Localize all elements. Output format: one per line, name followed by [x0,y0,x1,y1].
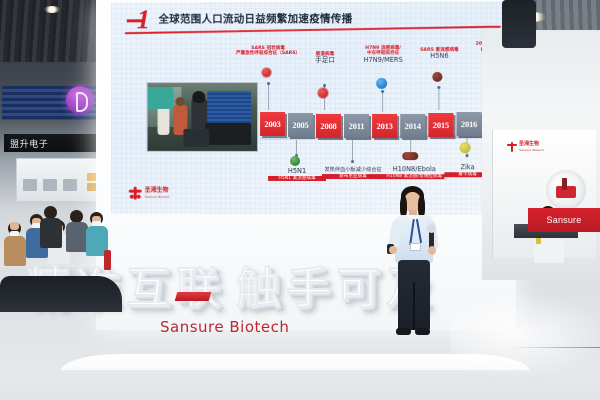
timeline-dot [437,86,440,89]
presenter-shoe [415,328,430,335]
standing-visitor-body [502,0,536,48]
timeline-year-block: 2011 [344,114,369,138]
booth-right-logo-en: Sansure Biotech [519,148,544,152]
standing-visitor [496,0,536,58]
presenter [382,186,452,336]
slide-sansure-logo: 圣湘生物 Sansure Biotech [129,187,170,200]
timeline-label-below: 发热伴血小板减少综合征 新布尼亚病毒 [322,168,384,179]
virus-icon-red [318,88,328,98]
virus-icon-blue [376,78,387,89]
presenter-badge [410,243,421,251]
timeline-stem [296,140,297,154]
stage-brand-name: Sansure Biotech [160,318,289,336]
banner-char: 触 [236,267,280,311]
virus-icon-ebola [402,152,418,160]
timeline-stem [382,92,383,112]
timeline-dot [381,90,384,93]
label-cn-primary: H10N8 禽流感/埃博拉病毒 [384,174,444,179]
banner-char: 可 [336,267,380,311]
timeline-label-above: SARS 禽流感病毒 H5N6 [410,48,468,61]
timeline-stem [438,88,439,110]
timeline-year-block: 2014 [400,114,425,138]
timeline-label-above: H7N9 流感病毒/ 中东呼吸综合征 H7N9/MERS [348,46,418,64]
fire-extinguisher-icon [104,250,111,270]
audience-crowd [0,192,120,312]
timeline-dot [351,160,354,163]
booth-right-logo: 圣湘生物 Sansure Biotech [507,142,544,152]
timeline-label-above: 肠道病毒 手足口 [296,52,354,65]
timeline-stem [352,140,353,160]
exhibition-scene: 盟升电子 盟升电子 1 全球范围人口流动日益频繁加速疫情传播 [0,0,600,400]
label-en: H10N8/Ebola [384,166,444,174]
booth-right-round-window [546,170,586,210]
timeline-year-block: 2005 [288,113,313,137]
timeline: 2003 2005 2008 2011 2013 2014 2015 2016 … [111,2,505,215]
timeline-year-block: 2015 [428,113,453,137]
timeline-label-below: H10N8/Ebola H10N8 禽流感/埃博拉病毒 [384,166,444,179]
hall-lamp [44,6,60,13]
microphone-head-icon [427,224,436,233]
timeline-year-block: 2016 [456,112,481,136]
exhibition-floor [0,370,600,400]
virus-icon-green [290,156,300,166]
sansure-logo-name-cn: 圣湘生物 [145,188,170,195]
banner-char: 互 [126,267,170,311]
presenter-hand-right [428,246,436,255]
presenter-leg-split [413,282,415,330]
timeline-dot [466,154,469,157]
booth-right-pillar-brand: Sansure [528,208,600,232]
laser-light-streak [510,347,600,348]
virus-icon-red [262,68,271,77]
timeline-label-below: H5N1 H5N1 禽流感病毒 [268,168,326,181]
displayed-instrument-arm [562,178,567,190]
sansure-logo-icon [507,142,517,152]
banner-char: 联 [176,267,220,311]
label-en: H5N1 [268,168,326,176]
sansure-logo-icon [129,187,142,200]
timeline-year-block: 2003 [260,112,285,136]
presenter-shoe [396,328,411,335]
projected-slide: 1 全球范围人口流动日益频繁加速疫情传播 2003 2005 2008 201 [111,2,505,215]
timeline-dot [323,84,326,87]
label-en: H7N9/MERS [348,56,418,64]
banner-red-accent [175,292,212,301]
sansure-logo-name-en: Sansure Biotech [145,194,170,198]
virus-icon-dark [432,72,442,82]
timeline-year-block: 2013 [372,114,397,138]
timeline-year-block: 2008 [316,114,341,138]
virus-icon-zika [460,142,471,153]
booth-right: 圣湘生物 Sansure Biotech Sansure [482,30,600,280]
timeline-dot [267,82,270,85]
foreground-barrier [0,276,122,312]
booth-left-logo-icon [66,86,94,114]
banner-char: 手 [286,267,330,311]
label-cn-primary: H5N1 禽流感病毒 [268,176,326,181]
label-en: H5N6 [410,53,468,61]
timeline-stem [268,84,269,110]
presenter-hand-left [389,246,397,254]
label-cn-primary: 新布尼亚病毒 [322,174,384,179]
label-en: 手足口 [296,57,354,65]
